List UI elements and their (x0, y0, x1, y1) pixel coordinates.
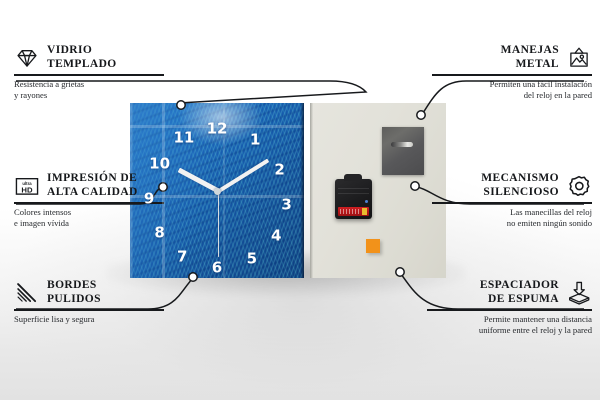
gear-icon (566, 173, 592, 199)
callout-header: BORDES PULIDOS (14, 279, 164, 306)
picture-hanger-icon (566, 45, 592, 71)
battery (338, 207, 369, 216)
clock-second-hand (218, 191, 220, 257)
hanger-slot (391, 142, 413, 147)
clock-numeral-1: 1 (250, 132, 260, 147)
mechanism-tab (344, 174, 362, 181)
clock-numeral-11: 11 (174, 131, 195, 146)
clock-numeral-9: 9 (144, 192, 154, 207)
clock-numeral-3: 3 (281, 197, 291, 212)
clock-numeral-7: 7 (177, 250, 187, 265)
clock-numeral-10: 10 (149, 157, 170, 172)
panel-edge (310, 103, 313, 278)
mechanism-detail (338, 188, 369, 189)
callout-header: VIDRIO TEMPLADO (14, 44, 164, 71)
battery-label (340, 209, 360, 214)
foam-spacer-icon (566, 280, 592, 306)
ultra-hd-icon: ultra HD (14, 173, 40, 199)
foam-spacer (366, 239, 380, 253)
callout-description: Permite mantener una distancia uniforme … (427, 314, 592, 337)
diamond-icon (14, 45, 40, 71)
clock-numeral-12: 12 (207, 122, 228, 137)
clock-center-pin (214, 188, 221, 195)
metal-hanger-plate (382, 127, 424, 175)
callout-description: Las manecillas del reloj no emiten ningú… (432, 207, 592, 230)
callout-divider (427, 309, 592, 310)
callout-header: MANEJAS METAL (432, 44, 592, 71)
clock-numeral-5: 5 (247, 251, 257, 266)
clock-numeral-8: 8 (154, 225, 164, 240)
callout-description: Resistencia a grietas y rayones (14, 79, 164, 102)
clock-numeral-6: 6 (212, 260, 222, 275)
callout-header: ESPACIADOR DE ESPUMA (427, 279, 592, 306)
callout-title: BORDES PULIDOS (47, 279, 101, 306)
polished-edges-icon (14, 280, 40, 306)
mechanism-indicator (365, 200, 368, 203)
callout-mecanismo-silencioso: MECANISMO SILENCIOSO Las manecillas del … (432, 172, 592, 229)
callout-manejas-metal: MANEJAS METAL Permiten una fácil instala… (432, 44, 592, 101)
callout-espaciador-espuma: ESPACIADOR DE ESPUMA Permite mantener un… (427, 279, 592, 336)
product-image-group: 12 1 2 3 4 5 6 7 8 9 10 11 (130, 103, 446, 278)
callout-header: MECANISMO SILENCIOSO (432, 172, 592, 199)
clock-front-face: 12 1 2 3 4 5 6 7 8 9 10 11 (130, 103, 304, 278)
callout-divider (14, 74, 164, 75)
mechanism-detail (338, 193, 369, 194)
clock-back-panel (310, 103, 446, 278)
callout-title: MANEJAS METAL (501, 44, 559, 71)
clock-numeral-4: 4 (271, 229, 281, 244)
callout-divider (432, 74, 592, 75)
callout-vidrio-templado: VIDRIO TEMPLADO Resistencia a grietas y … (14, 44, 164, 101)
clock-edge-bevel (300, 103, 304, 278)
callout-description: Permiten una fácil instalación del reloj… (432, 79, 592, 102)
silent-clock-mechanism (335, 179, 372, 219)
svg-text:HD: HD (21, 185, 33, 194)
clock-numeral-2: 2 (274, 162, 284, 177)
callout-title: ESPACIADOR DE ESPUMA (480, 279, 559, 306)
callout-divider (432, 202, 592, 203)
product-feature-infographic: 12 1 2 3 4 5 6 7 8 9 10 11 (0, 0, 600, 400)
callout-title: IMPRESIÓN DE ALTA CALIDAD (47, 172, 138, 199)
callout-bordes-pulidos: BORDES PULIDOS Superficie lisa y segura (14, 279, 164, 325)
callout-description: Superficie lisa y segura (14, 314, 164, 325)
callout-title: MECANISMO SILENCIOSO (481, 172, 559, 199)
callout-title: VIDRIO TEMPLADO (47, 44, 117, 71)
callout-divider (14, 309, 164, 310)
